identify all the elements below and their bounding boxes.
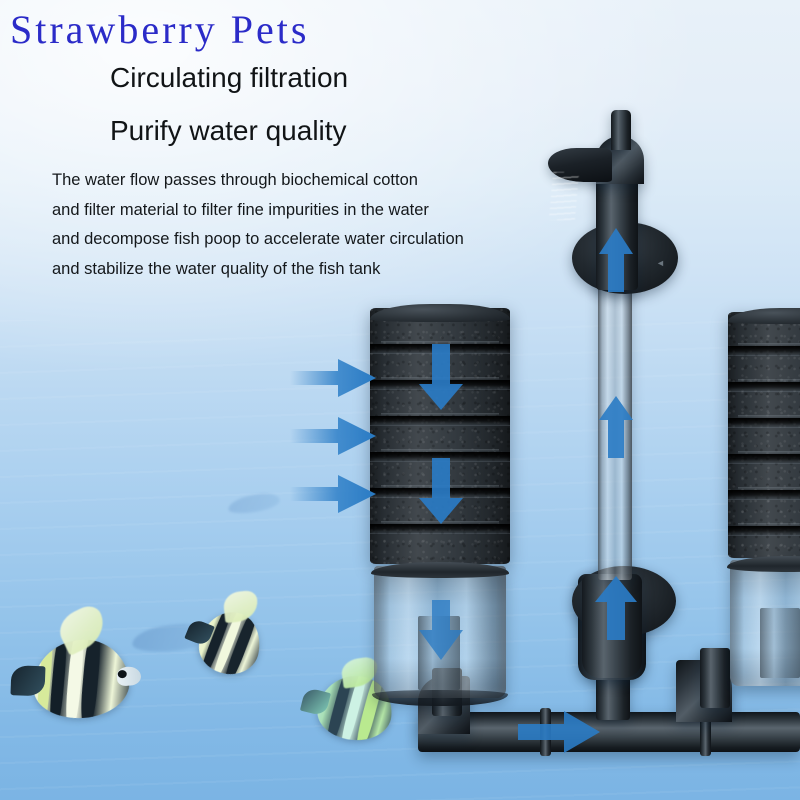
sponge-groove (728, 490, 800, 499)
sponge-groove (370, 344, 510, 353)
headline-secondary: Purify water quality (110, 115, 347, 147)
sponge-groove (728, 346, 800, 355)
sponge-groove (370, 452, 510, 461)
cup-rim-right (727, 556, 800, 572)
cup-inner-tube-left (418, 616, 460, 690)
air-tube (611, 110, 631, 150)
sponge-groove (728, 526, 800, 535)
intake-arrow-1 (290, 358, 376, 398)
moorish-idol-large (30, 637, 131, 722)
pipe-collar-left (540, 708, 551, 756)
sponge-groove (370, 380, 510, 389)
suction-cup-marker: ◄ (656, 258, 665, 268)
collection-cup-right (730, 560, 800, 686)
sponge-groove (370, 524, 510, 533)
collection-cup-left (374, 566, 506, 698)
sponge-groove (370, 416, 510, 425)
sponge-groove (728, 382, 800, 391)
sponge-top-cap-left (370, 304, 510, 322)
product-marketing-image: ◄ (0, 0, 800, 800)
cup-downpipe-right (700, 648, 730, 708)
description-line-3: and decompose fish poop to accelerate wa… (52, 229, 592, 250)
t-junction-body-front (582, 574, 642, 678)
cup-inner-tube-right (760, 608, 800, 678)
riser-tube (598, 276, 632, 580)
sponge-groove (370, 488, 510, 497)
moorish-idol-medium (194, 606, 266, 679)
headline-primary: Circulating filtration (110, 62, 348, 94)
sponge-groove (728, 454, 800, 463)
cup-rim-left (371, 562, 509, 578)
description-line-2: and filter material to filter fine impur… (52, 200, 592, 221)
brand-title: Strawberry Pets (10, 6, 309, 53)
sponge-cartridge-left (370, 308, 510, 564)
intake-arrow-3 (290, 474, 376, 514)
description-line-4: and stabilize the water quality of the f… (52, 259, 592, 280)
description-block: The water flow passes through biochemica… (52, 170, 592, 289)
background-fish-silhouette-2 (227, 491, 281, 517)
sponge-top-cap-right (728, 308, 800, 324)
sponge-groove (728, 418, 800, 427)
intake-arrow-2 (290, 416, 376, 456)
description-line-1: The water flow passes through biochemica… (52, 170, 592, 191)
sponge-cartridge-right (728, 312, 800, 558)
